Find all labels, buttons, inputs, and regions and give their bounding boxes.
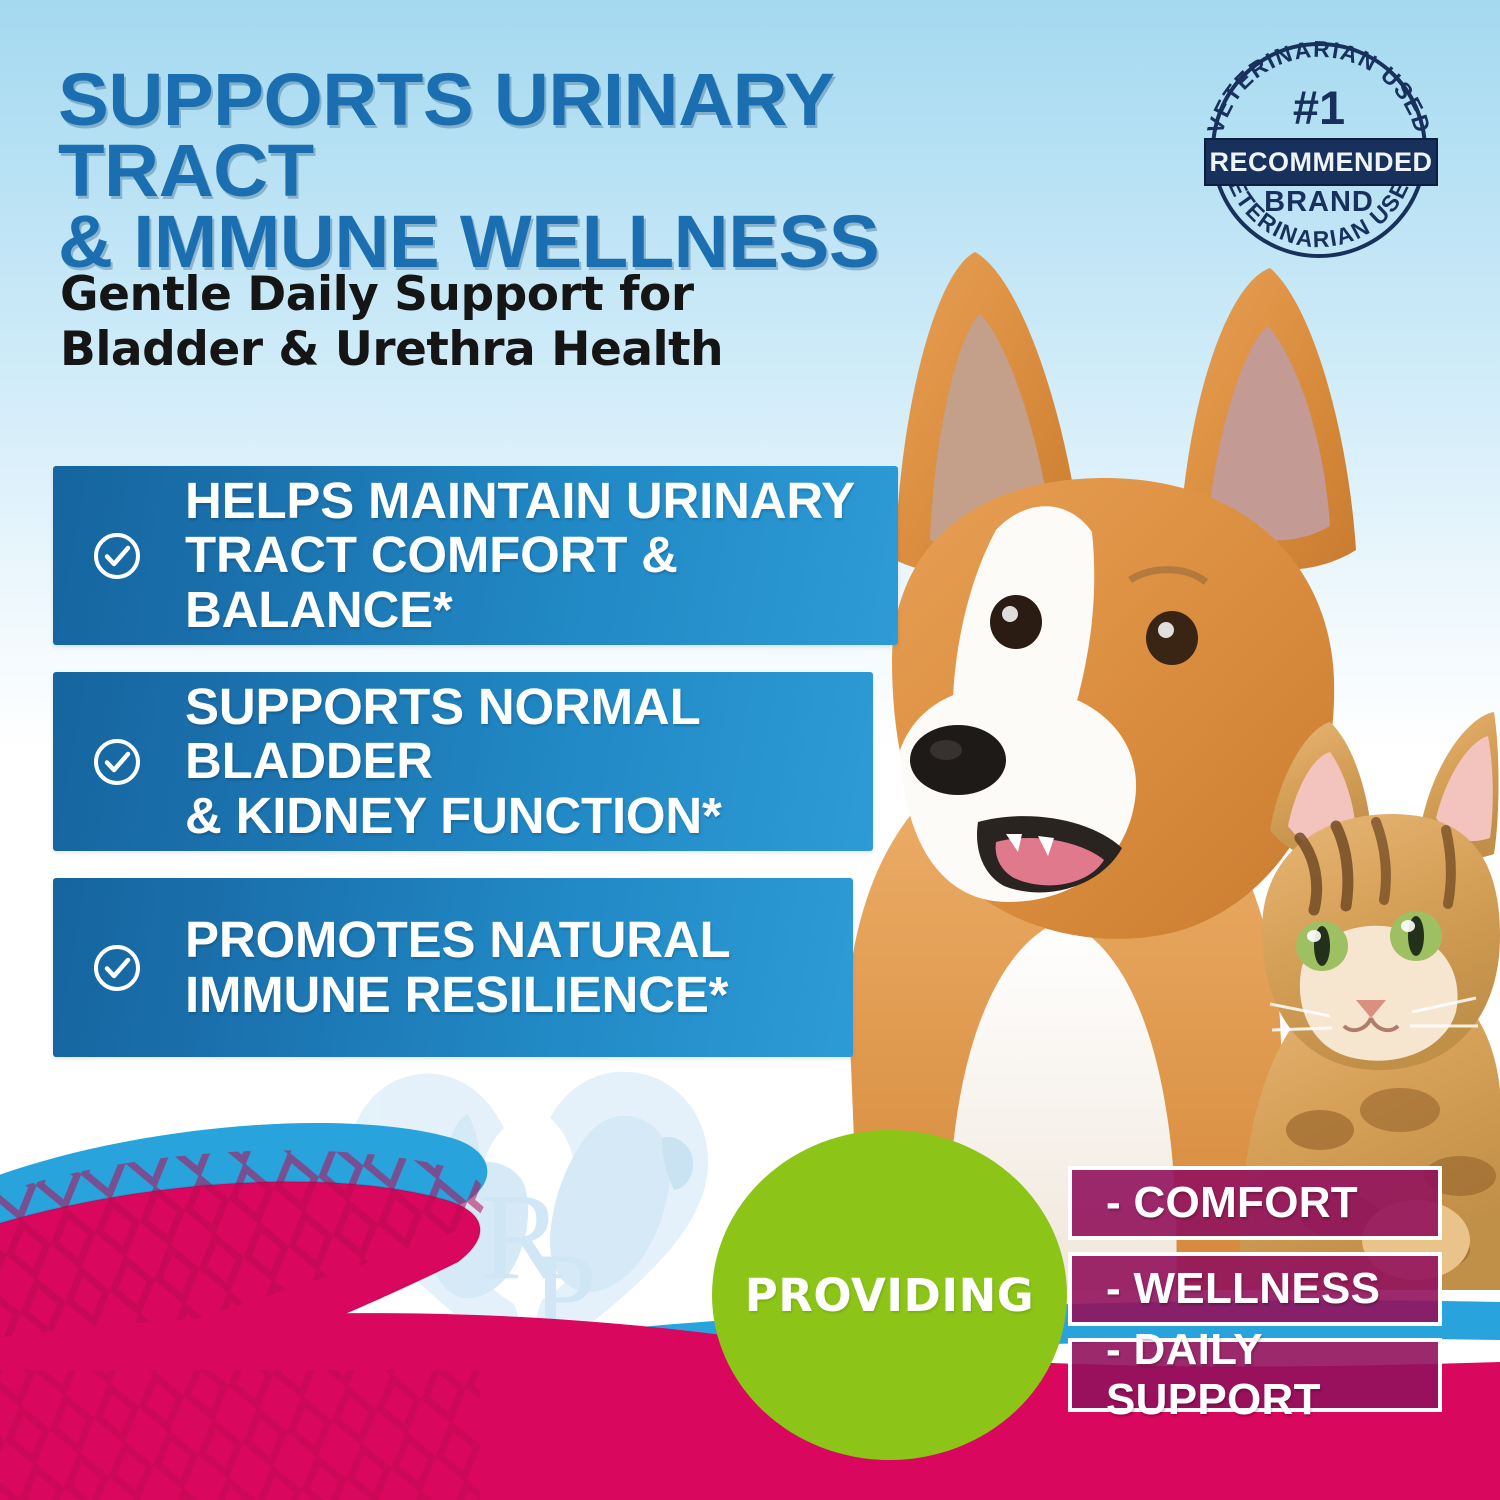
benefit-bar-3: PROMOTES NATURAL IMMUNE RESILIENCE* — [53, 878, 853, 1057]
providing-item-label: - DAILY SUPPORT — [1106, 1325, 1438, 1425]
badge-recommended-bar: RECOMMENDED — [1204, 138, 1438, 186]
providing-item-wellness: - WELLNESS — [1068, 1252, 1442, 1326]
badge-number: #1 — [1196, 80, 1442, 135]
benefit-bar-1: HELPS MAINTAIN URINARY TRACT COMFORT & B… — [53, 466, 898, 645]
benefit-text-3: PROMOTES NATURAL IMMUNE RESILIENCE* — [185, 913, 731, 1021]
benefit-bar-2: SUPPORTS NORMAL BLADDER & KIDNEY FUNCTIO… — [53, 672, 873, 851]
page-subtitle: Gentle Daily Support for Bladder & Ureth… — [60, 268, 820, 377]
providing-item-label: - WELLNESS — [1106, 1264, 1380, 1314]
benefit-text-2: SUPPORTS NORMAL BLADDER & KIDNEY FUNCTIO… — [185, 680, 873, 842]
vet-recommended-badge: VETERINARIAN USED VETERINARIAN USED #1 R… — [1196, 28, 1442, 268]
providing-label: PROVIDING — [745, 1269, 1034, 1322]
check-circle-icon — [91, 530, 143, 582]
providing-badge: PROVIDING — [712, 1130, 1067, 1460]
check-circle-icon — [91, 736, 143, 788]
page-title: SUPPORTS URINARY TRACT & IMMUNE WELLNESS — [58, 64, 1098, 277]
badge-brand-label: BRAND — [1196, 186, 1442, 219]
check-circle-icon — [91, 942, 143, 994]
benefit-text-1: HELPS MAINTAIN URINARY TRACT COMFORT & B… — [185, 474, 898, 636]
badge-recommended-label: RECOMMENDED — [1209, 147, 1432, 178]
providing-item-daily-support: - DAILY SUPPORT — [1068, 1338, 1442, 1412]
providing-item-label: - COMFORT — [1106, 1178, 1358, 1228]
providing-item-comfort: - COMFORT — [1068, 1166, 1442, 1240]
product-infographic: SUPPORTS URINARY TRACT & IMMUNE WELLNESS… — [0, 0, 1500, 1500]
